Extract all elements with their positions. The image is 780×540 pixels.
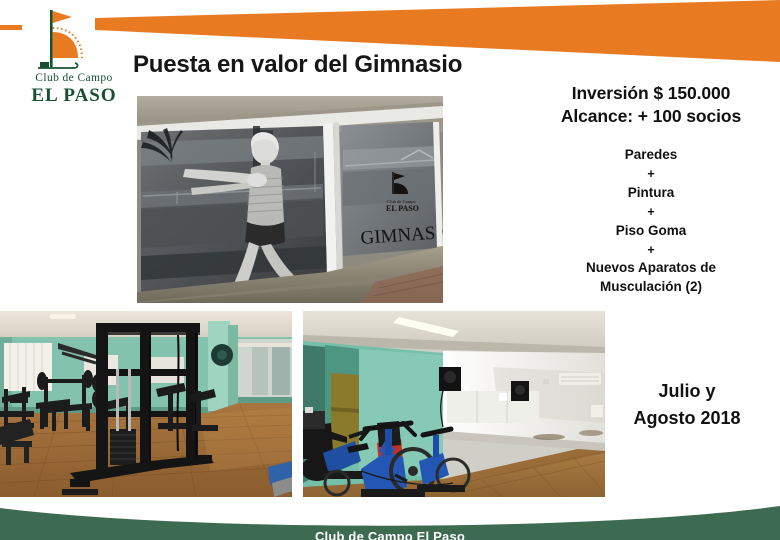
- scope-item-4-line-2: Musculación (2): [525, 278, 777, 297]
- svg-text:EL PASO: EL PASO: [386, 204, 419, 213]
- scope-breakdown-list: Paredes + Pintura + Piso Goma + Nuevos A…: [525, 145, 777, 296]
- scope-item-3: Piso Goma: [525, 221, 777, 241]
- logo-line-1: Club de Campo: [24, 72, 124, 84]
- logo-line-2: EL PASO: [24, 85, 124, 107]
- schedule-line-1: Julio y: [597, 378, 777, 405]
- club-logo: Club de Campo EL PASO: [14, 6, 112, 104]
- reach-value: Alcance: + 100 socios: [525, 105, 777, 128]
- footer-label: Club de Campo El Paso: [0, 529, 780, 540]
- presentation-slide: Club de Campo EL PASO Puesta en valor de…: [0, 0, 780, 540]
- investment-amount: Inversión $ 150.000: [525, 82, 777, 105]
- page-title: Puesta en valor del Gimnasio: [133, 51, 462, 79]
- gym-window-photo-graphic: Club de Campo EL PASO GIMNASIO: [137, 96, 443, 303]
- scope-item-2: Pintura: [525, 183, 777, 203]
- summary-panel: Inversión $ 150.000 Alcance: + 100 socio…: [525, 82, 777, 296]
- scope-separator-2: +: [525, 203, 777, 221]
- scope-separator-3: +: [525, 241, 777, 259]
- schedule-line-2: Agosto 2018: [597, 405, 777, 432]
- weights-room-photo-graphic: [0, 311, 292, 497]
- scope-item-4-line-1: Nuevos Aparatos de: [525, 259, 777, 278]
- weights-room-photo: [0, 311, 292, 497]
- schedule-block: Julio y Agosto 2018: [597, 378, 777, 432]
- logo-emblem-icon: [14, 6, 112, 76]
- scope-separator-1: +: [525, 165, 777, 183]
- gym-window-photo: Club de Campo EL PASO GIMNASIO: [137, 96, 443, 303]
- spinning-room-photo-graphic: [303, 311, 605, 497]
- scope-item-1: Paredes: [525, 145, 777, 165]
- spinning-room-photo: [303, 311, 605, 497]
